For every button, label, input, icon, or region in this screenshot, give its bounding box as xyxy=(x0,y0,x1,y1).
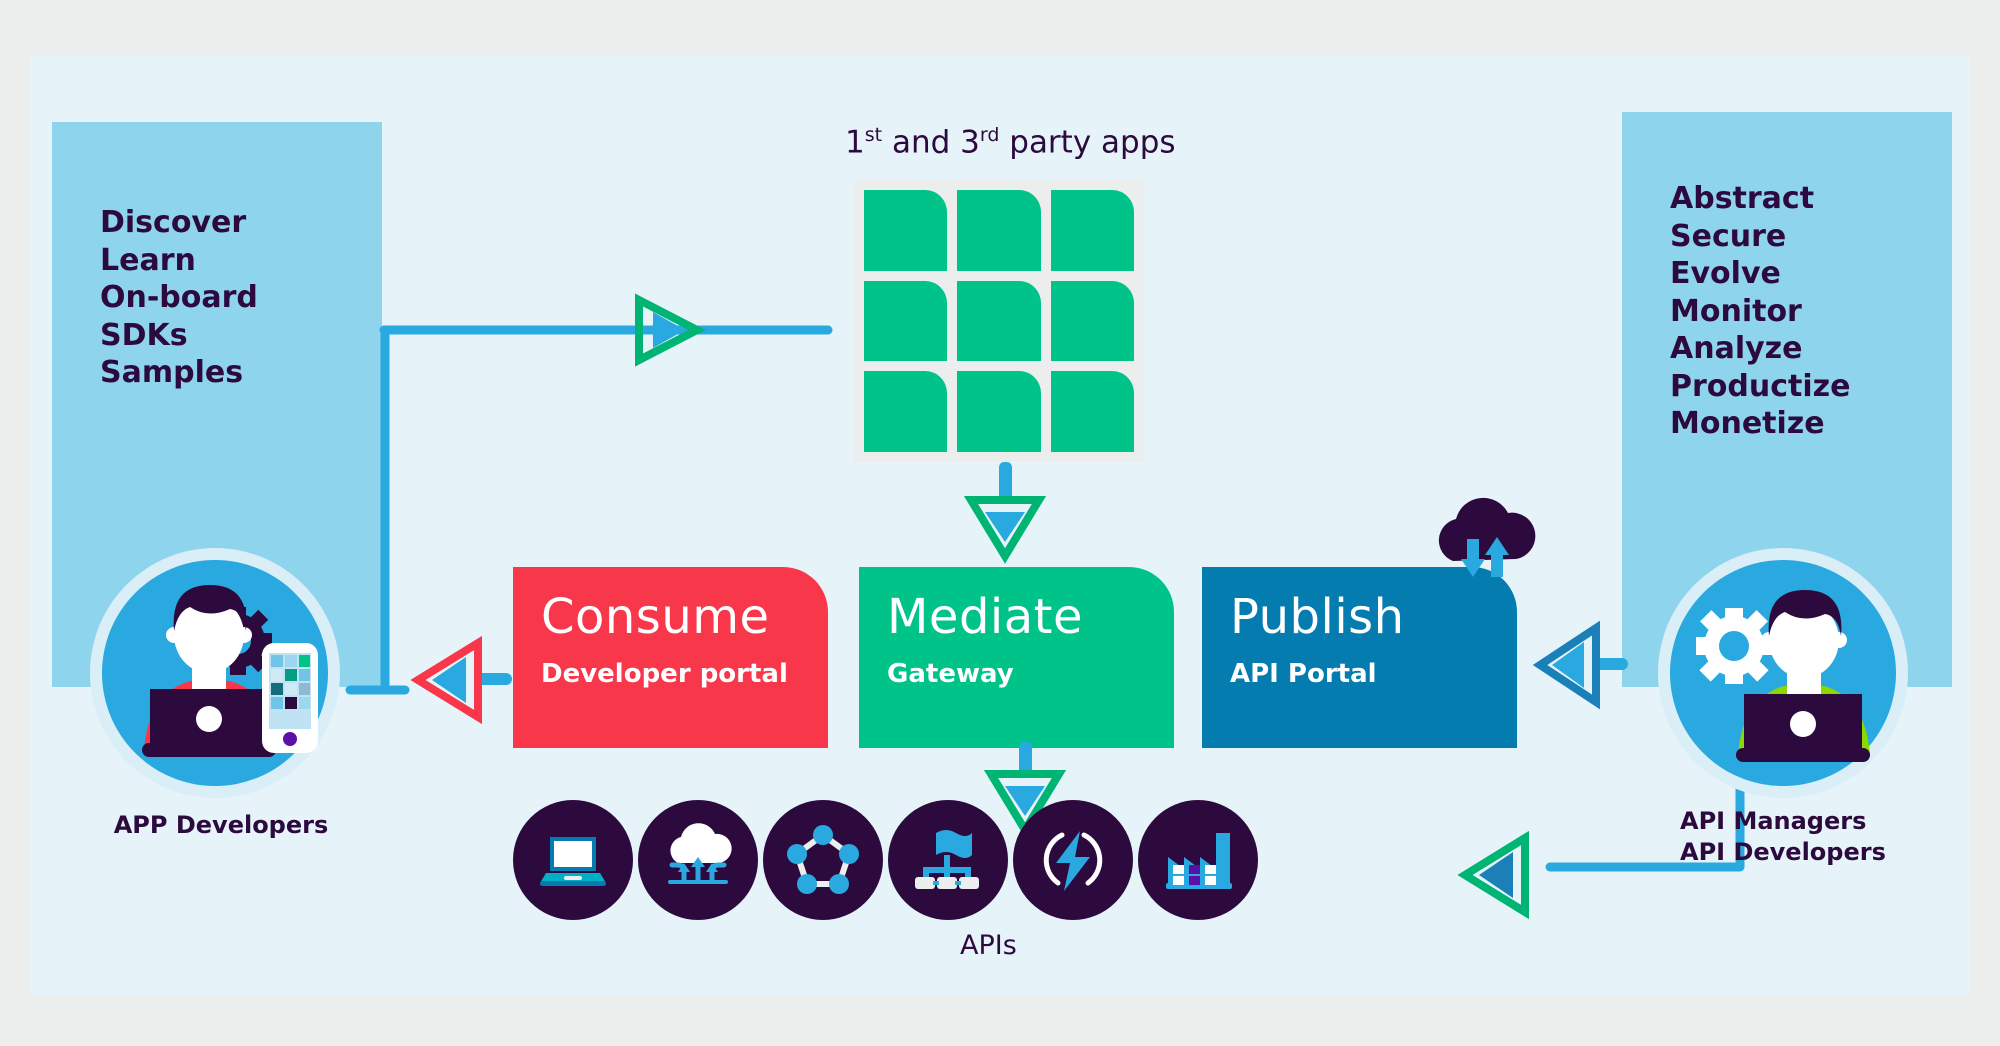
stage-subtitle-mediate: Gateway xyxy=(887,659,1014,689)
arrow-consume-to-developers-icon xyxy=(400,625,520,735)
left-panel-items: Discover Learn On-board SDKs Samples xyxy=(100,204,258,392)
app-tile[interactable] xyxy=(1051,281,1134,362)
app-tile[interactable] xyxy=(1051,190,1134,271)
avatar-api-managers[interactable]: API Managers API Developers xyxy=(1658,548,1908,798)
app-tile[interactable] xyxy=(957,281,1040,362)
connector-developers-to-apps xyxy=(370,300,840,360)
app-tile[interactable] xyxy=(957,371,1040,452)
app-tile[interactable] xyxy=(957,190,1040,271)
app-tile[interactable] xyxy=(864,190,947,271)
diagram-canvas: Discover Learn On-board SDKs Samples Abs… xyxy=(0,0,2000,1046)
caption-app-developers: APP Developers xyxy=(96,810,346,841)
stage-card-mediate[interactable]: Mediate Gateway xyxy=(859,567,1174,748)
arrow-apps-to-mediate-icon xyxy=(955,460,1055,570)
arrow-developers-to-apps-icon xyxy=(625,290,705,370)
factory-icon xyxy=(1160,823,1236,897)
cloud-upload-icon xyxy=(660,823,736,897)
stage-title-publish: Publish xyxy=(1230,591,1405,643)
apps-title-sup-st: st xyxy=(865,124,882,146)
app-tile[interactable] xyxy=(1051,371,1134,452)
stage-card-publish[interactable]: Publish API Portal xyxy=(1202,567,1517,748)
apps-title-mid: and 3 xyxy=(882,124,980,160)
api-manager-illustration xyxy=(1680,578,1890,768)
gear-icon xyxy=(1696,608,1772,684)
api-icon-circle-factory[interactable] xyxy=(1138,800,1258,920)
stage-subtitle-consume: Developer portal xyxy=(541,659,788,689)
right-panel-items: Abstract Secure Evolve Monitor Analyze P… xyxy=(1670,180,1850,443)
api-icon-circle-cloud-upload[interactable] xyxy=(638,800,758,920)
network-nodes-icon xyxy=(786,823,860,897)
caption-api-managers: API Managers API Developers xyxy=(1680,806,1940,868)
api-icon-circle-laptop[interactable] xyxy=(513,800,633,920)
app-grid xyxy=(854,180,1144,462)
apps-title-sup-rd: rd xyxy=(980,124,1000,146)
api-icon-circle-sitemap[interactable] xyxy=(888,800,1008,920)
api-icon-circle-lightning[interactable] xyxy=(1013,800,1133,920)
api-icon-circle-network-nodes[interactable] xyxy=(763,800,883,920)
cloud-sync-icon xyxy=(1425,495,1545,585)
avatar-app-developers[interactable]: APP Developers xyxy=(90,548,340,798)
app-tile[interactable] xyxy=(864,371,947,452)
apps-title-prefix: 1 xyxy=(845,124,865,160)
apps-title-suffix: party apps xyxy=(999,124,1175,160)
lightning-bolt-icon xyxy=(1036,823,1110,897)
apps-title: 1st and 3rd party apps xyxy=(845,124,1265,160)
stage-subtitle-publish: API Portal xyxy=(1230,659,1377,689)
arrow-managers-to-publish-icon xyxy=(1530,610,1670,720)
stage-title-mediate: Mediate xyxy=(887,591,1083,643)
app-tile[interactable] xyxy=(864,281,947,362)
apis-label: APIs xyxy=(960,930,1160,961)
stage-card-consume[interactable]: Consume Developer portal xyxy=(513,567,828,748)
sitemap-flag-icon xyxy=(911,823,985,897)
stage-title-consume: Consume xyxy=(541,591,770,643)
laptop-icon xyxy=(536,823,610,897)
app-developer-illustration xyxy=(110,573,320,763)
